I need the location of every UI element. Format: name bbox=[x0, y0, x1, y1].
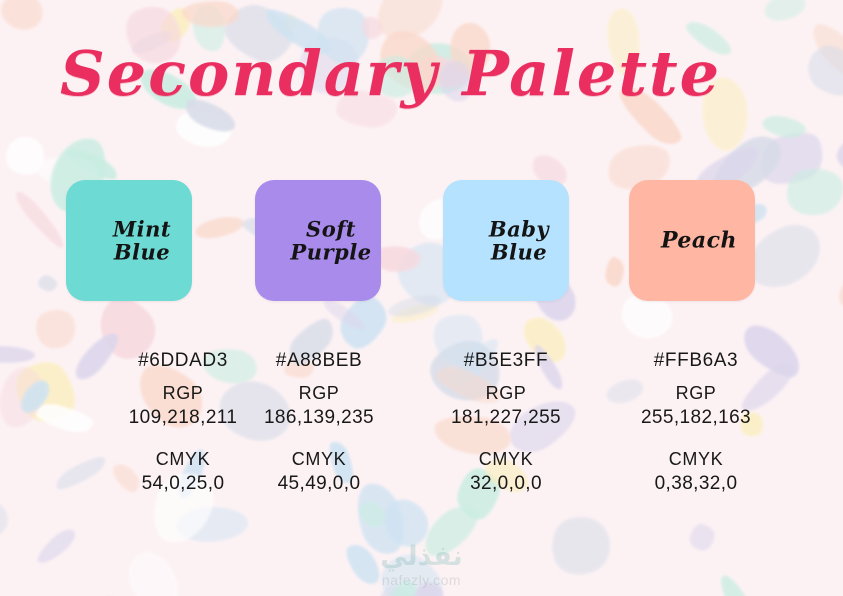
spacer bbox=[224, 431, 414, 440]
palette-poster: Secondary Palette Mint Blue Soft Purple … bbox=[0, 0, 843, 596]
swatch-label-baby-blue: Baby Blue bbox=[443, 217, 569, 264]
cmyk-label-peach: CMYK bbox=[601, 447, 791, 471]
terrazzo-blob bbox=[604, 257, 625, 288]
color-swatch-peach[interactable]: Peach bbox=[629, 180, 755, 301]
terrazzo-blob bbox=[36, 274, 59, 294]
terrazzo-blob bbox=[716, 571, 764, 596]
page-title: Secondary Palette bbox=[60, 26, 620, 122]
cmyk-label-soft-purple: CMYK bbox=[224, 447, 414, 471]
terrazzo-blob bbox=[194, 215, 245, 241]
swatch-label-soft-purple: Soft Purple bbox=[255, 217, 381, 264]
hex-value-baby-blue: #B5E3FF bbox=[411, 348, 601, 374]
color-info-soft-purple: #A88BEB RGP 186,139,235 CMYK 45,49,0,0 bbox=[224, 348, 414, 497]
hex-value-soft-purple: #A88BEB bbox=[224, 348, 414, 374]
color-swatch-baby-blue[interactable]: Baby Blue bbox=[443, 180, 569, 301]
color-info-baby-blue: #B5E3FF RGP 181,227,255 CMYK 32,0,0,0 bbox=[411, 348, 601, 497]
color-swatch-soft-purple[interactable]: Soft Purple bbox=[255, 180, 381, 301]
terrazzo-blob bbox=[839, 279, 843, 312]
rgb-value-peach: 255,182,163 bbox=[601, 405, 791, 431]
hex-value-peach: #FFB6A3 bbox=[601, 348, 791, 374]
rgb-label-baby-blue: RGP bbox=[411, 381, 601, 405]
terrazzo-blob bbox=[33, 524, 79, 568]
terrazzo-blob bbox=[833, 133, 843, 179]
cmyk-value-baby-blue: 32,0,0,0 bbox=[411, 471, 601, 497]
rgb-value-baby-blue: 181,227,255 bbox=[411, 405, 601, 431]
rgb-label-peach: RGP bbox=[601, 381, 791, 405]
terrazzo-blob bbox=[119, 544, 190, 596]
terrazzo-blob bbox=[0, 497, 15, 550]
terrazzo-blob bbox=[799, 39, 843, 105]
spacer bbox=[601, 431, 791, 440]
rgb-label-soft-purple: RGP bbox=[224, 381, 414, 405]
terrazzo-blob bbox=[688, 522, 717, 552]
rgb-value-soft-purple: 186,139,235 bbox=[224, 405, 414, 431]
terrazzo-blob bbox=[0, 344, 36, 365]
cmyk-label-baby-blue: CMYK bbox=[411, 447, 601, 471]
terrazzo-blob bbox=[762, 0, 807, 23]
terrazzo-blob bbox=[544, 508, 619, 583]
color-info-peach: #FFB6A3 RGP 255,182,163 CMYK 0,38,32,0 bbox=[601, 348, 791, 497]
color-swatch-mint-blue[interactable]: Mint Blue bbox=[66, 180, 192, 301]
cmyk-value-soft-purple: 45,49,0,0 bbox=[224, 471, 414, 497]
spacer bbox=[411, 431, 601, 440]
terrazzo-blob bbox=[0, 0, 50, 40]
cmyk-value-peach: 0,38,32,0 bbox=[601, 471, 791, 497]
swatch-label-mint-blue: Mint Blue bbox=[66, 217, 192, 264]
terrazzo-blob bbox=[30, 302, 84, 355]
swatch-label-peach: Peach bbox=[629, 228, 755, 253]
terrazzo-blob bbox=[182, 1, 239, 28]
